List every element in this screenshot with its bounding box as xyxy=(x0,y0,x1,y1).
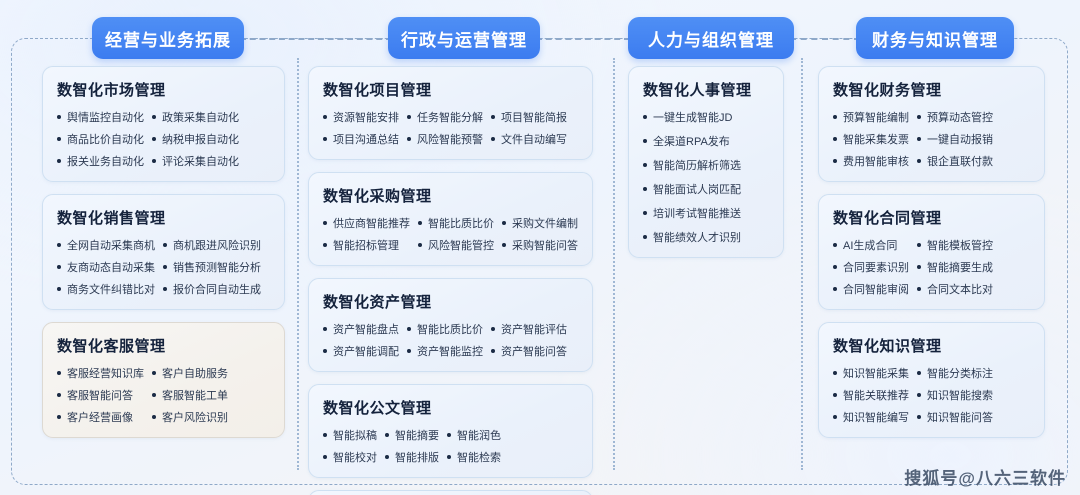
feature-item[interactable]: 友商动态自动采集 xyxy=(57,259,155,275)
bullet-icon xyxy=(57,243,61,247)
feature-item[interactable]: 全渠道RPA发布 xyxy=(643,133,795,149)
module-card[interactable]: 数智化资产管理资产智能盘点智能比质比价资产智能评估资产智能调配资产智能监控资产智… xyxy=(308,278,593,372)
feature-item-label: 资产智能调配 xyxy=(333,343,399,359)
feature-item-label: 舆情监控自动化 xyxy=(67,109,144,125)
bullet-icon xyxy=(643,115,647,119)
feature-item-label: 资源智能安排 xyxy=(333,109,399,125)
module-card-title: 数智化公文管理 xyxy=(323,397,580,418)
bullet-icon xyxy=(57,393,61,397)
feature-item[interactable]: 商务文件纠错比对 xyxy=(57,281,155,297)
feature-item-label: 客户风险识别 xyxy=(162,409,228,425)
feature-item[interactable]: 合同智能审阅 xyxy=(833,281,909,297)
feature-item-label: 智能摘要 xyxy=(395,427,439,443)
module-card-title: 数智化市场管理 xyxy=(57,79,272,100)
feature-item-label: 销售预测智能分析 xyxy=(173,259,261,275)
column-hr: 数智化人事管理一键生成智能JD全渠道RPA发布智能简历解析筛选智能面试人岗匹配培… xyxy=(628,66,784,270)
feature-item-label: 费用智能审核 xyxy=(843,153,909,169)
feature-item-label: 智能校对 xyxy=(333,449,377,465)
feature-item-label: 任务智能分解 xyxy=(417,109,483,125)
bullet-icon xyxy=(323,243,327,247)
feature-item-label: 智能排版 xyxy=(395,449,439,465)
feature-item[interactable]: 银企直联付款 xyxy=(917,153,993,169)
bullet-icon xyxy=(57,371,61,375)
feature-item[interactable]: 舆情监控自动化 xyxy=(57,109,144,125)
module-feature-list: 舆情监控自动化政策采集自动化商品比价自动化纳税申报自动化报关业务自动化评论采集自… xyxy=(57,109,151,169)
category-pill-finance[interactable]: 财务与知识管理 xyxy=(856,17,1014,59)
feature-item-label: 智能简历解析筛选 xyxy=(653,157,741,173)
feature-item-label: 供应商智能推荐 xyxy=(333,215,410,231)
module-feature-list: 全网自动采集商机商机跟进风险识别友商动态自动采集销售预测智能分析商务文件纠错比对… xyxy=(57,237,151,297)
bullet-icon xyxy=(917,393,921,397)
module-card[interactable]: 数智化销售管理全网自动采集商机商机跟进风险识别友商动态自动采集销售预测智能分析商… xyxy=(42,194,285,310)
feature-item[interactable]: 智能摘要生成 xyxy=(917,259,993,275)
bullet-icon xyxy=(502,243,506,247)
column-operations: 数智化项目管理资源智能安排任务智能分解项目智能简报项目沟通总结风险智能预警文件自… xyxy=(308,66,593,495)
bullet-icon xyxy=(57,287,61,291)
feature-item-label: 全渠道RPA发布 xyxy=(653,133,730,149)
feature-item[interactable]: 政策采集自动化 xyxy=(152,109,239,125)
bullet-icon xyxy=(152,159,156,163)
bullet-icon xyxy=(152,371,156,375)
module-feature-list: 一键生成智能JD全渠道RPA发布智能简历解析筛选智能面试人岗匹配培训考试智能推送… xyxy=(643,109,795,245)
feature-item-label: 政策采集自动化 xyxy=(162,109,239,125)
feature-item-label: 友商动态自动采集 xyxy=(67,259,155,275)
feature-item-label: 智能比质比价 xyxy=(417,321,483,337)
pill-connector-3 xyxy=(790,38,860,40)
feature-item[interactable]: 智能排版 xyxy=(385,449,439,465)
feature-item-label: 全网自动采集商机 xyxy=(67,237,155,253)
module-card[interactable]: 数智化合同管理AI生成合同智能模板管控合同要素识别智能摘要生成合同智能审阅合同文… xyxy=(818,194,1045,310)
feature-item-label: 智能采集发票 xyxy=(843,131,909,147)
bullet-icon xyxy=(163,287,167,291)
feature-item-label: 一键生成智能JD xyxy=(653,109,732,125)
module-feature-list: 客服经营知识库客户自助服务客服智能问答客服智能工单客户经营画像客户风险识别 xyxy=(57,365,151,425)
bullet-icon xyxy=(152,415,156,419)
bullet-icon xyxy=(447,433,451,437)
feature-item-label: 知识智能采集 xyxy=(843,365,909,381)
feature-item-label: 智能分类标注 xyxy=(927,365,993,381)
bullet-icon xyxy=(491,115,495,119)
bullet-icon xyxy=(152,115,156,119)
feature-item[interactable]: 智能关联推荐 xyxy=(833,387,909,403)
module-feature-list: 预算智能编制预算动态管控智能采集发票一键自动报销费用智能审核银企直联付款 xyxy=(833,109,927,169)
feature-item-label: 智能润色 xyxy=(457,427,501,443)
feature-item-label: 客户自助服务 xyxy=(162,365,228,381)
module-card-title: 数智化人事管理 xyxy=(643,79,771,100)
feature-item-label: 预算动态管控 xyxy=(927,109,993,125)
feature-item-label: 智能检索 xyxy=(457,449,501,465)
feature-item-label: 银企直联付款 xyxy=(927,153,993,169)
module-card[interactable]: 数智化知识管理知识智能采集智能分类标注智能关联推荐知识智能搜索知识智能编写知识智… xyxy=(818,322,1045,438)
bullet-icon xyxy=(643,211,647,215)
bullet-icon xyxy=(418,221,422,225)
module-feature-list: AI生成合同智能模板管控合同要素识别智能摘要生成合同智能审阅合同文本比对 xyxy=(833,237,927,297)
feature-item-label: 风险智能管控 xyxy=(428,237,494,253)
feature-item-label: 客户经营画像 xyxy=(67,409,133,425)
feature-item[interactable]: 知识智能采集 xyxy=(833,365,909,381)
category-pill-hr[interactable]: 人力与组织管理 xyxy=(628,17,794,59)
feature-item[interactable]: 全网自动采集商机 xyxy=(57,237,155,253)
bullet-icon xyxy=(407,115,411,119)
feature-item-label: 知识智能问答 xyxy=(927,409,993,425)
feature-item-label: 知识智能编写 xyxy=(843,409,909,425)
column-finance: 数智化财务管理预算智能编制预算动态管控智能采集发票一键自动报销费用智能审核银企直… xyxy=(818,66,1045,450)
feature-item-label: 合同智能审阅 xyxy=(843,281,909,297)
feature-item-label: 合同要素识别 xyxy=(843,259,909,275)
feature-item[interactable]: 合同文本比对 xyxy=(917,281,993,297)
feature-item-label: 文件自动编写 xyxy=(501,131,567,147)
bullet-icon xyxy=(323,433,327,437)
feature-item[interactable]: 评论采集自动化 xyxy=(152,153,239,169)
feature-item[interactable]: 费用智能审核 xyxy=(833,153,909,169)
feature-item-label: 采购文件编制 xyxy=(512,215,578,231)
feature-item-label: 资产智能盘点 xyxy=(333,321,399,337)
feature-item-label: 培训考试智能推送 xyxy=(653,205,741,221)
module-card-title: 数智化财务管理 xyxy=(833,79,1032,100)
bullet-icon xyxy=(643,139,647,143)
feature-item-label: 客服智能问答 xyxy=(67,387,133,403)
feature-item[interactable]: 商品比价自动化 xyxy=(57,131,144,147)
feature-item-label: 知识智能搜索 xyxy=(927,387,993,403)
bullet-icon xyxy=(407,327,411,331)
feature-item[interactable]: 报价合同自动生成 xyxy=(163,281,261,297)
feature-item[interactable]: 预算动态管控 xyxy=(917,109,993,125)
bullet-icon xyxy=(833,393,837,397)
feature-item-label: 项目沟通总结 xyxy=(333,131,399,147)
feature-item-label: 商机跟进风险识别 xyxy=(173,237,261,253)
feature-item-label: 资产智能评估 xyxy=(501,321,567,337)
category-pill-operations[interactable]: 行政与运营管理 xyxy=(388,17,540,59)
feature-item-label: 采购智能问答 xyxy=(512,237,578,253)
column-separator-3 xyxy=(801,58,803,470)
module-feature-list: 资产智能盘点智能比质比价资产智能评估资产智能调配资产智能监控资产智能问答 xyxy=(323,321,393,359)
feature-item[interactable]: 智能摘要 xyxy=(385,427,439,443)
pill-connector-2 xyxy=(536,38,630,40)
feature-item-label: AI生成合同 xyxy=(843,237,897,253)
bullet-icon xyxy=(407,349,411,353)
bullet-icon xyxy=(917,137,921,141)
feature-item[interactable]: 项目沟通总结 xyxy=(323,131,399,147)
bullet-icon xyxy=(491,327,495,331)
feature-item[interactable]: 风险智能预警 xyxy=(407,131,483,147)
feature-item-label: 合同文本比对 xyxy=(927,281,993,297)
module-card-title: 数智化采购管理 xyxy=(323,185,580,206)
feature-item-label: 客服智能工单 xyxy=(162,387,228,403)
bullet-icon xyxy=(152,393,156,397)
feature-item-label: 纳税申报自动化 xyxy=(162,131,239,147)
pill-connector-1 xyxy=(240,38,392,40)
feature-item[interactable]: 智能绩效人才识别 xyxy=(643,229,795,245)
module-feature-list: 知识智能采集智能分类标注智能关联推荐知识智能搜索知识智能编写知识智能问答 xyxy=(833,365,927,425)
feature-item[interactable]: 智能拟稿 xyxy=(323,427,377,443)
bullet-icon xyxy=(833,137,837,141)
bullet-icon xyxy=(643,187,647,191)
bullet-icon xyxy=(163,265,167,269)
module-card[interactable]: 数智化客服管理客服经营知识库客户自助服务客服智能问答客服智能工单客户经营画像客户… xyxy=(42,322,285,438)
column-separator-2 xyxy=(613,58,615,470)
module-card[interactable]: 数智化采购管理供应商智能推荐智能比质比价采购文件编制智能招标管理风险智能管控采购… xyxy=(308,172,593,266)
bullet-icon xyxy=(57,115,61,119)
feature-item-label: 智能招标管理 xyxy=(333,237,399,253)
feature-item[interactable]: 文件自动编写 xyxy=(491,131,567,147)
module-feature-list: 供应商智能推荐智能比质比价采购文件编制智能招标管理风险智能管控采购智能问答 xyxy=(323,215,393,253)
feature-item-label: 智能关联推荐 xyxy=(843,387,909,403)
feature-item[interactable]: 客服智能问答 xyxy=(57,387,144,403)
bullet-icon xyxy=(57,415,61,419)
module-card-title: 数智化合同管理 xyxy=(833,207,1032,228)
module-card[interactable]: 数智化项目管理资源智能安排任务智能分解项目智能简报项目沟通总结风险智能预警文件自… xyxy=(308,66,593,160)
feature-item[interactable]: 任务智能分解 xyxy=(407,109,483,125)
bullet-icon xyxy=(418,243,422,247)
bullet-icon xyxy=(917,115,921,119)
feature-item-label: 项目智能简报 xyxy=(501,109,567,125)
feature-item[interactable]: 商机跟进风险识别 xyxy=(163,237,261,253)
feature-item[interactable]: 客服经营知识库 xyxy=(57,365,144,381)
feature-item[interactable]: 采购文件编制 xyxy=(502,215,578,231)
bullet-icon xyxy=(57,265,61,269)
feature-item-label: 报价合同自动生成 xyxy=(173,281,261,297)
feature-item-label: 智能摘要生成 xyxy=(927,259,993,275)
feature-item[interactable]: 资产智能问答 xyxy=(491,343,567,359)
feature-item[interactable]: 资产智能监控 xyxy=(407,343,483,359)
feature-item-label: 预算智能编制 xyxy=(843,109,909,125)
feature-item[interactable]: 知识智能搜索 xyxy=(917,387,993,403)
bullet-icon xyxy=(833,243,837,247)
module-card-title: 数智化销售管理 xyxy=(57,207,272,228)
module-card-title: 数智化项目管理 xyxy=(323,79,580,100)
feature-item[interactable]: 报关业务自动化 xyxy=(57,153,144,169)
feature-item[interactable]: 一键生成智能JD xyxy=(643,109,795,125)
feature-item[interactable]: 资源智能安排 xyxy=(323,109,399,125)
feature-item[interactable]: 智能简历解析筛选 xyxy=(643,157,795,173)
module-card-title: 数智化资产管理 xyxy=(323,291,580,312)
feature-item[interactable]: 资产智能调配 xyxy=(323,343,399,359)
bullet-icon xyxy=(152,137,156,141)
bullet-icon xyxy=(385,433,389,437)
module-card-title: 数智化客服管理 xyxy=(57,335,272,356)
feature-item-label: 智能面试人岗匹配 xyxy=(653,181,741,197)
column-separator-1 xyxy=(297,58,299,470)
feature-item[interactable]: 智能润色 xyxy=(447,427,501,443)
feature-item[interactable]: 客户经营画像 xyxy=(57,409,144,425)
bullet-icon xyxy=(917,415,921,419)
feature-item[interactable]: 采购智能问答 xyxy=(502,237,578,253)
bullet-icon xyxy=(917,265,921,269)
feature-item[interactable]: 客服智能工单 xyxy=(152,387,228,403)
bullet-icon xyxy=(57,159,61,163)
bullet-icon xyxy=(833,371,837,375)
bullet-icon xyxy=(643,163,647,167)
feature-item[interactable]: 智能比质比价 xyxy=(407,321,483,337)
module-card[interactable]: 数智化公文管理智能拟稿智能摘要智能润色智能校对智能排版智能检索 xyxy=(308,384,593,478)
feature-item-label: 客服经营知识库 xyxy=(67,365,144,381)
column-business: 数智化市场管理舆情监控自动化政策采集自动化商品比价自动化纳税申报自动化报关业务自… xyxy=(42,66,285,450)
module-card[interactable]: 数智化档案管理档案自动采集档案智能鉴定档案智能摘要档案智能检索档案智能关联档案智… xyxy=(308,490,593,495)
feature-item[interactable]: AI生成合同 xyxy=(833,237,909,253)
feature-item[interactable]: 一键自动报销 xyxy=(917,131,993,147)
bullet-icon xyxy=(447,455,451,459)
module-card-title: 数智化知识管理 xyxy=(833,335,1032,356)
bullet-icon xyxy=(491,349,495,353)
feature-item-label: 智能绩效人才识别 xyxy=(653,229,741,245)
feature-item[interactable]: 培训考试智能推送 xyxy=(643,205,795,221)
feature-item[interactable]: 项目智能简报 xyxy=(491,109,567,125)
bullet-icon xyxy=(917,159,921,163)
bullet-icon xyxy=(323,349,327,353)
module-feature-list: 资源智能安排任务智能分解项目智能简报项目沟通总结风险智能预警文件自动编写 xyxy=(323,109,393,147)
bullet-icon xyxy=(491,137,495,141)
bullet-icon xyxy=(163,243,167,247)
feature-item-label: 评论采集自动化 xyxy=(162,153,239,169)
feature-item[interactable]: 智能比质比价 xyxy=(418,215,494,231)
feature-item[interactable]: 合同要素识别 xyxy=(833,259,909,275)
module-card[interactable]: 数智化人事管理一键生成智能JD全渠道RPA发布智能简历解析筛选智能面试人岗匹配培… xyxy=(628,66,784,258)
bullet-icon xyxy=(502,221,506,225)
category-pill-business[interactable]: 经营与业务拓展 xyxy=(92,17,244,59)
bullet-icon xyxy=(833,115,837,119)
feature-item[interactable]: 资产智能盘点 xyxy=(323,321,399,337)
bullet-icon xyxy=(833,159,837,163)
feature-item[interactable]: 智能模板管控 xyxy=(917,237,993,253)
feature-item-label: 资产智能问答 xyxy=(501,343,567,359)
feature-item[interactable]: 销售预测智能分析 xyxy=(163,259,261,275)
feature-item-label: 智能比质比价 xyxy=(428,215,494,231)
bullet-icon xyxy=(833,287,837,291)
feature-item[interactable]: 供应商智能推荐 xyxy=(323,215,410,231)
bullet-icon xyxy=(323,137,327,141)
feature-item[interactable]: 智能采集发票 xyxy=(833,131,909,147)
bullet-icon xyxy=(833,265,837,269)
feature-item-label: 报关业务自动化 xyxy=(67,153,144,169)
feature-item[interactable]: 纳税申报自动化 xyxy=(152,131,239,147)
feature-item-label: 商务文件纠错比对 xyxy=(67,281,155,297)
feature-item[interactable]: 资产智能评估 xyxy=(491,321,567,337)
feature-item[interactable]: 知识智能问答 xyxy=(917,409,993,425)
feature-item-label: 资产智能监控 xyxy=(417,343,483,359)
module-card[interactable]: 数智化市场管理舆情监控自动化政策采集自动化商品比价自动化纳税申报自动化报关业务自… xyxy=(42,66,285,182)
feature-item[interactable]: 预算智能编制 xyxy=(833,109,909,125)
feature-item[interactable]: 智能校对 xyxy=(323,449,377,465)
bullet-icon xyxy=(643,235,647,239)
bullet-icon xyxy=(917,371,921,375)
feature-item[interactable]: 客户风险识别 xyxy=(152,409,228,425)
feature-item[interactable]: 智能检索 xyxy=(447,449,501,465)
feature-item[interactable]: 知识智能编写 xyxy=(833,409,909,425)
feature-item-label: 智能模板管控 xyxy=(927,237,993,253)
bullet-icon xyxy=(407,137,411,141)
feature-item-label: 智能拟稿 xyxy=(333,427,377,443)
bullet-icon xyxy=(323,221,327,225)
feature-item[interactable]: 客户自助服务 xyxy=(152,365,228,381)
feature-item[interactable]: 智能分类标注 xyxy=(917,365,993,381)
feature-item-label: 一键自动报销 xyxy=(927,131,993,147)
module-card[interactable]: 数智化财务管理预算智能编制预算动态管控智能采集发票一键自动报销费用智能审核银企直… xyxy=(818,66,1045,182)
feature-item[interactable]: 智能面试人岗匹配 xyxy=(643,181,795,197)
bullet-icon xyxy=(323,115,327,119)
bullet-icon xyxy=(323,327,327,331)
bullet-icon xyxy=(917,243,921,247)
feature-item-label: 风险智能预警 xyxy=(417,131,483,147)
bullet-icon xyxy=(917,287,921,291)
feature-item[interactable]: 智能招标管理 xyxy=(323,237,410,253)
module-feature-list: 智能拟稿智能摘要智能润色智能校对智能排版智能检索 xyxy=(323,427,393,465)
feature-item[interactable]: 风险智能管控 xyxy=(418,237,494,253)
feature-item-label: 商品比价自动化 xyxy=(67,131,144,147)
watermark: 搜狐号@八六三软件 xyxy=(904,464,1066,489)
bullet-icon xyxy=(323,455,327,459)
bullet-icon xyxy=(57,137,61,141)
bullet-icon xyxy=(385,455,389,459)
bullet-icon xyxy=(833,415,837,419)
